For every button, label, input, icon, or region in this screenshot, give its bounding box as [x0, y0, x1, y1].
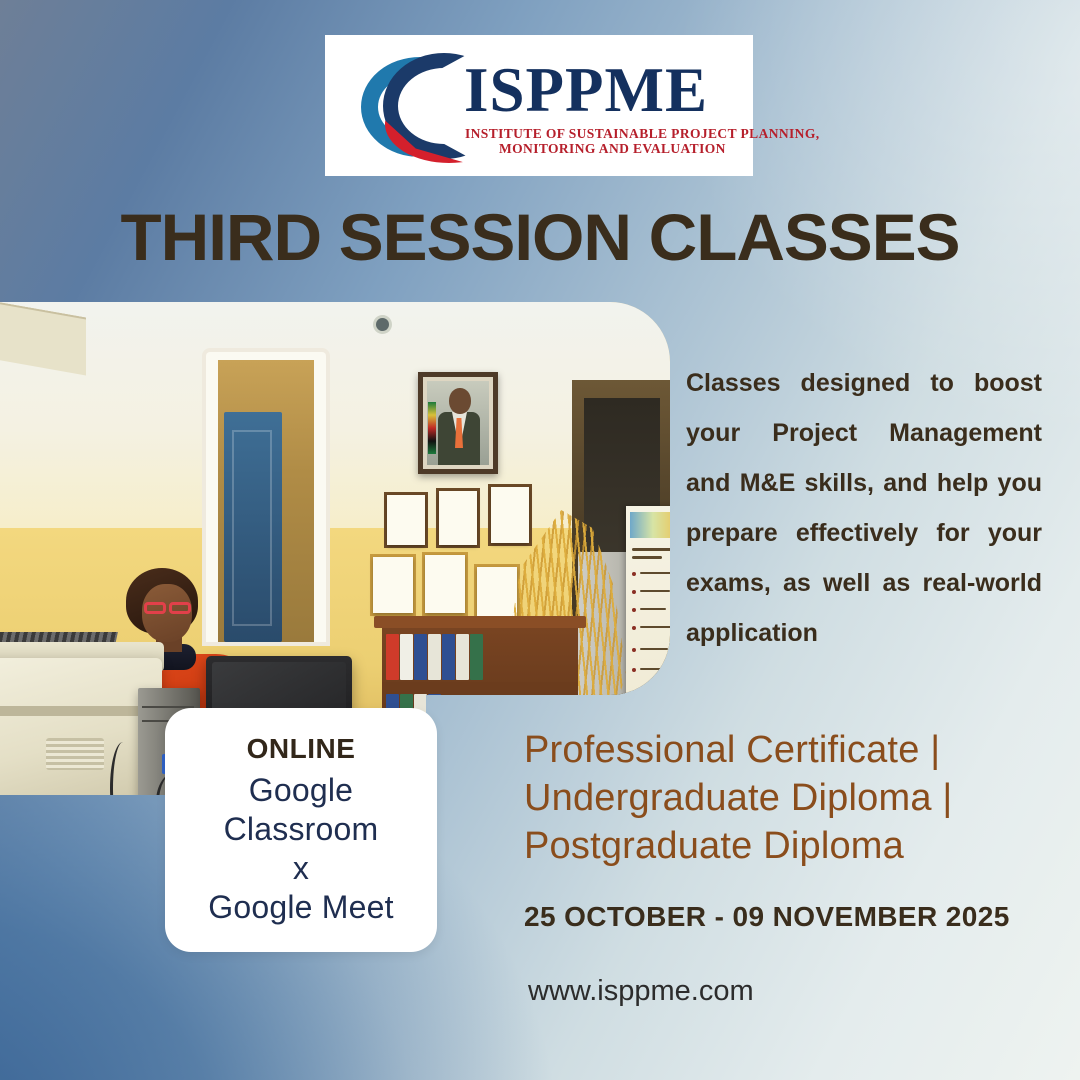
page-title: THIRD SESSION CLASSES — [0, 198, 1080, 276]
website-url[interactable]: www.isppme.com — [528, 975, 754, 1008]
logo-wordmark: ISPPME — [464, 57, 708, 123]
logo-tagline-line-1: INSTITUTE OF SUSTAINABLE PROJECT PLANNIN… — [465, 126, 820, 142]
platform-line-1: Google — [249, 772, 353, 808]
course-description: Classes designed to boost your Project M… — [686, 358, 1042, 708]
logo-tagline-line-2: MONITORING AND EVALUATION — [499, 141, 726, 157]
program-list: Professional Certificate | Undergraduate… — [524, 726, 1044, 870]
poster-canvas: ISPPME INSTITUTE OF SUSTAINABLE PROJECT … — [0, 0, 1080, 1080]
online-label: ONLINE — [247, 733, 356, 765]
platform-line-4: Google Meet — [208, 889, 393, 925]
platform-line-2: Classroom — [224, 811, 379, 847]
logo-artwork: ISPPME INSTITUTE OF SUSTAINABLE PROJECT … — [349, 51, 729, 161]
program-line-3: Postgraduate Diploma — [524, 822, 1044, 870]
isppme-logo: ISPPME INSTITUTE OF SUSTAINABLE PROJECT … — [325, 35, 753, 176]
session-dates: 25 OCTOBER - 09 NOVEMBER 2025 — [524, 901, 1010, 933]
platform-line-3: x — [293, 850, 309, 886]
program-line-2: Undergraduate Diploma | — [524, 774, 1044, 822]
online-platform-list: Google Classroom x Google Meet — [208, 771, 393, 927]
online-delivery-card: ONLINE Google Classroom x Google Meet — [165, 708, 437, 952]
program-line-1: Professional Certificate | — [524, 726, 1044, 774]
